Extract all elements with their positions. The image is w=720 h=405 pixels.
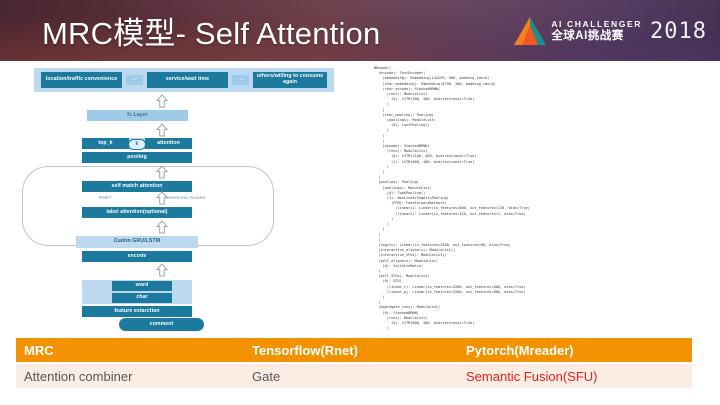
table-cell-attention-combiner: Attention combiner [16, 364, 244, 388]
char-box: char [112, 293, 172, 303]
comparison-table: MRC Tensorflow(Rnet) Pytorch(Mreader) At… [16, 338, 692, 388]
arrow-up-4 [155, 191, 169, 205]
attention-box: attention [145, 138, 192, 149]
model-code-block: MReader( (encode): TextEncoder( (embeddi… [374, 66, 706, 332]
slide-content: location/traffic convenience ... service… [0, 64, 720, 334]
arrow-up-6 [155, 263, 169, 277]
arrow-up-2 [155, 123, 169, 137]
output-gap-1: ... [126, 75, 143, 85]
slide-header: MRC模型- Self Attention AI CHALLENGER 全球AI… [0, 0, 720, 64]
comment-input-node: comment [119, 318, 204, 331]
topk-k-badge: k [128, 139, 146, 150]
label-attention-box: label attention(optional) [82, 207, 192, 218]
fc-layer-box: fc Layer [87, 110, 188, 121]
rnet-note: RNET [99, 195, 112, 200]
slide: MRC模型- Self Attention AI CHALLENGER 全球AI… [0, 0, 720, 405]
feature-extraction-box: feature extarction [82, 306, 192, 317]
logo-en-label: AI CHALLENGER [551, 20, 642, 29]
table-header-tensorflow: Tensorflow(Rnet) [244, 338, 458, 362]
table-header-row: MRC Tensorflow(Rnet) Pytorch(Mreader) [16, 338, 692, 362]
arrow-up-3 [155, 165, 169, 179]
table-row: Attention combiner Gate Semantic Fusion(… [16, 364, 692, 388]
pooling-box: pooling [82, 152, 192, 163]
triangle-logo-icon [513, 16, 547, 46]
self-match-attention-box: self match attention [82, 181, 192, 192]
arrow-up-5 [155, 220, 169, 234]
table-header-pytorch: Pytorch(Mreader) [458, 338, 692, 362]
table-header-mrc: MRC [16, 338, 244, 362]
output-box-others: others/willing to consume again [253, 72, 327, 88]
word-box: word [112, 281, 172, 291]
module-capsule-outline [22, 166, 274, 246]
logo-text: AI CHALLENGER 全球AI挑战赛 [551, 20, 642, 42]
topk-box: top_k [82, 138, 129, 149]
page-title: MRC模型- Self Attention [42, 8, 380, 53]
encode-box: encode [82, 251, 192, 262]
output-gap-2: ... [232, 75, 249, 85]
cudnn-box: Cudnn GRU/LSTM [88, 236, 186, 248]
output-box-service: service/wait time [147, 72, 228, 88]
mnemonic-reader-note: Mnemonic Reader [166, 195, 206, 200]
logo-cn-label: 全球AI挑战赛 [551, 31, 642, 43]
table-cell-semantic-fusion: Semantic Fusion(SFU) [458, 364, 692, 388]
ai-challenger-logo: AI CHALLENGER 全球AI挑战赛 2018 [513, 13, 707, 49]
architecture-diagram: location/traffic convenience ... service… [14, 66, 354, 332]
table-cell-gate: Gate [244, 364, 458, 388]
logo-year-label: 2018 [650, 19, 707, 44]
output-box-location: location/traffic convenience [41, 72, 122, 88]
arrow-up-1 [155, 94, 169, 108]
